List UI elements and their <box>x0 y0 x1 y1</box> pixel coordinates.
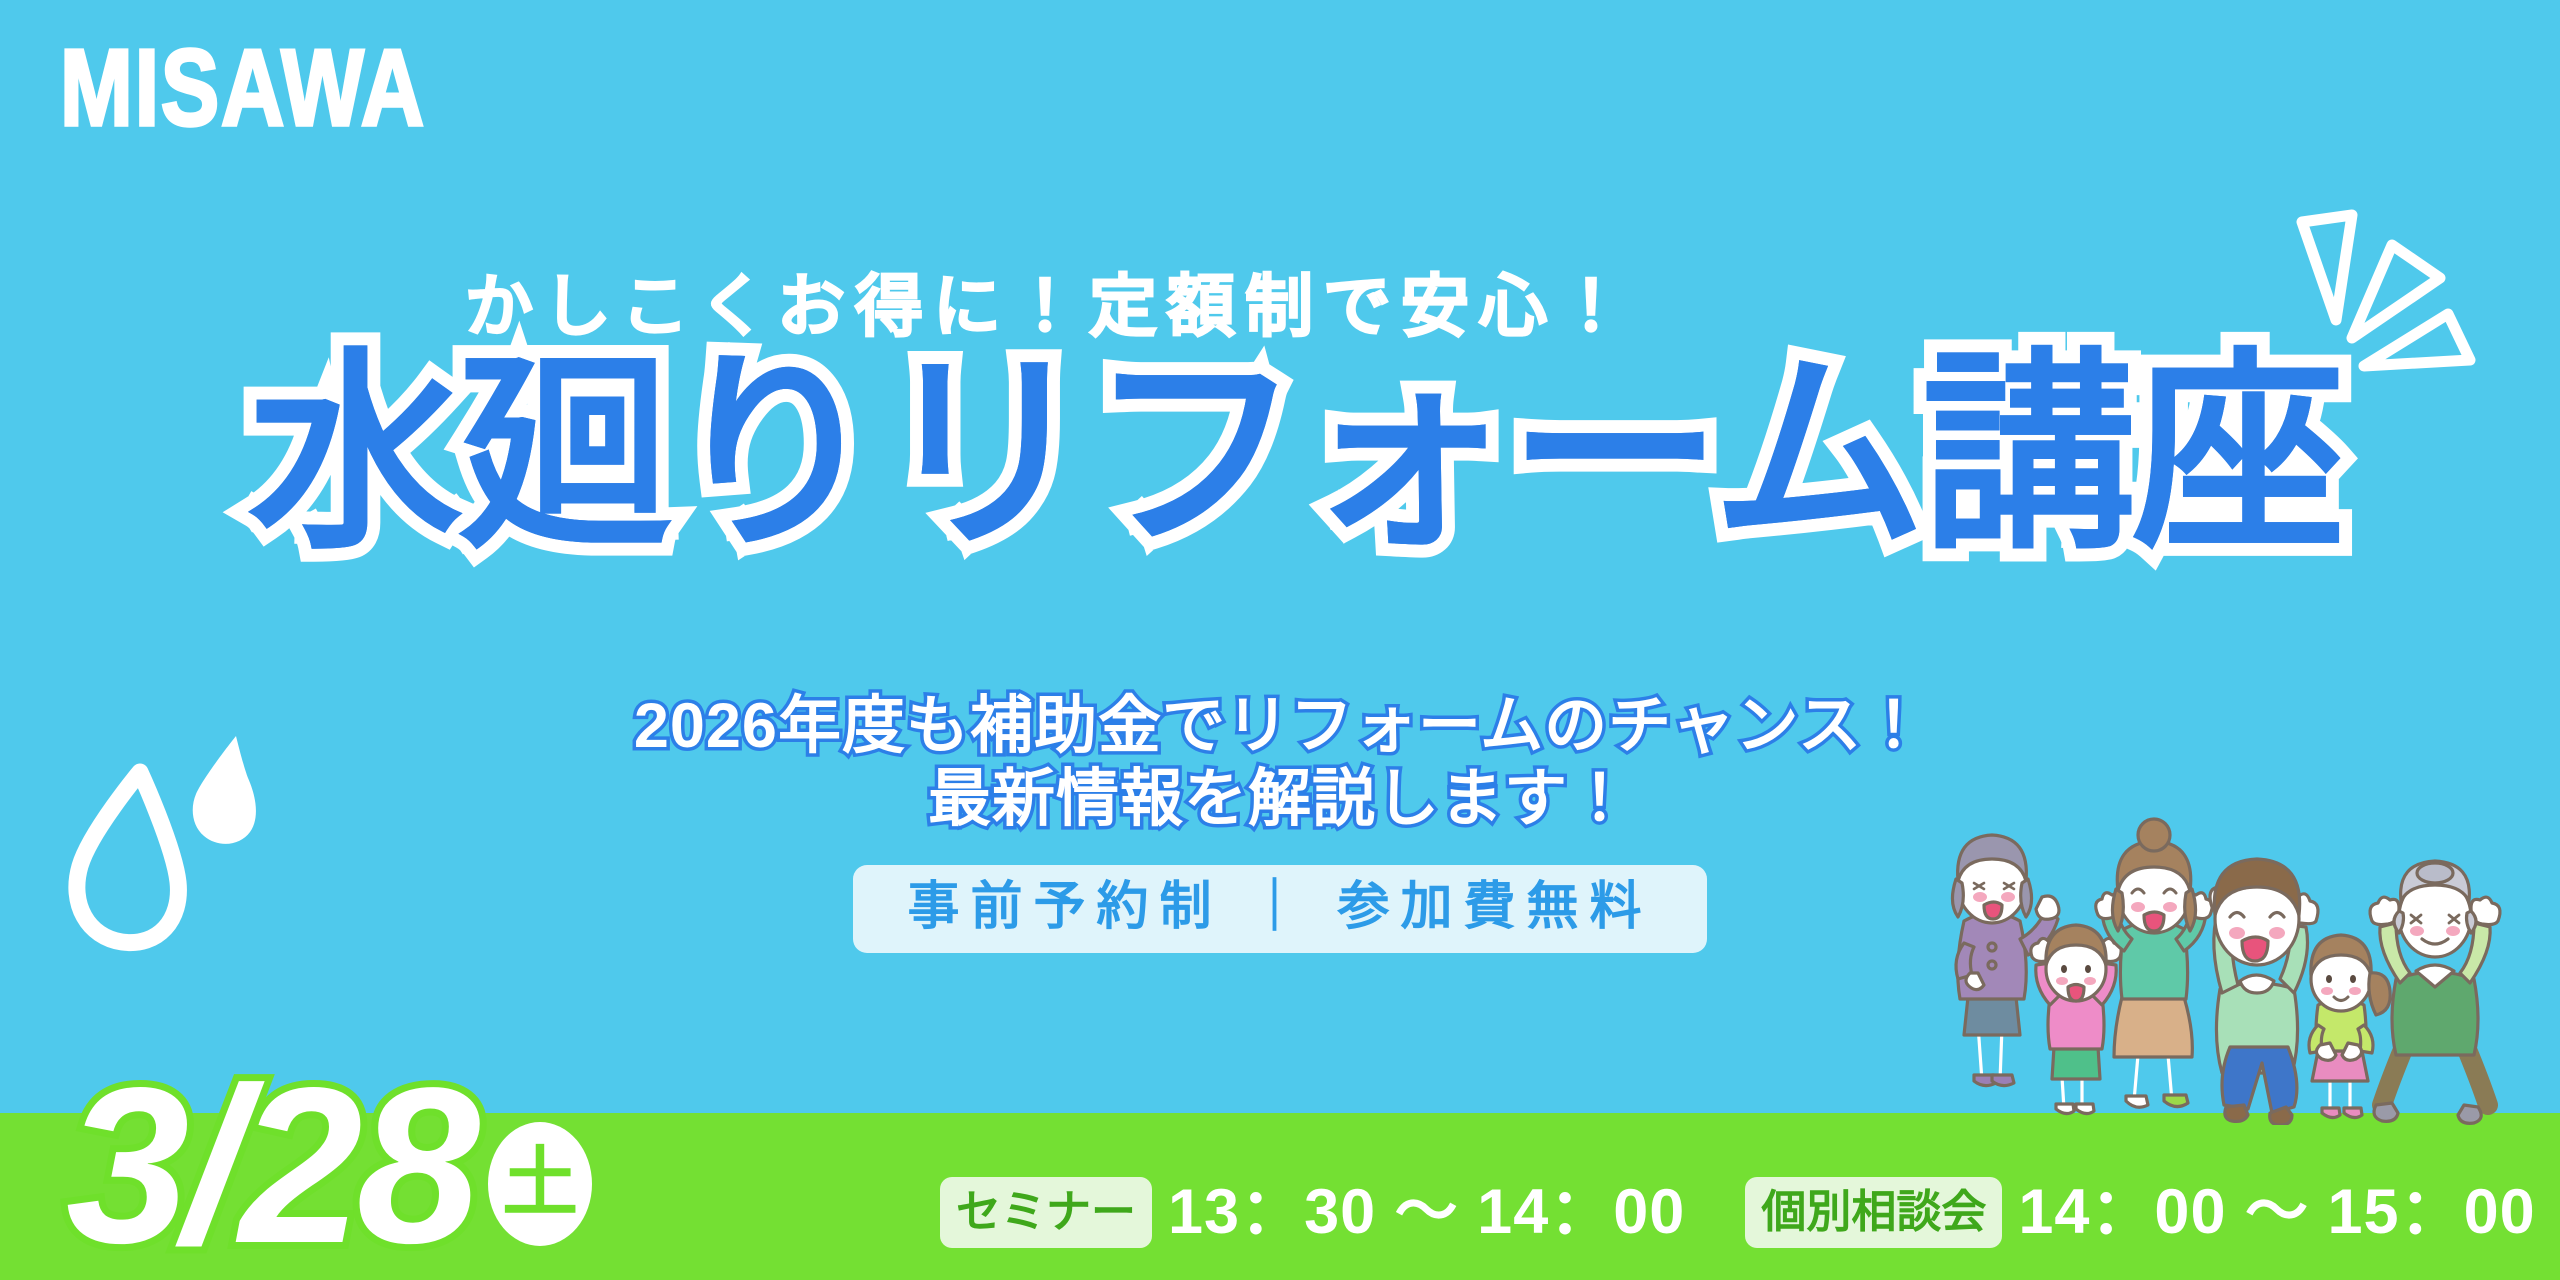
consultation-time: 14：00 ～ 15：00 <box>2018 1181 2535 1244</box>
schedule-list: セミナー 13：30 ～ 14：00 個別相談会 14：00 ～ 15：00 <box>940 1177 2536 1248</box>
sub-headline: 2026年度も補助金でリフォームのチャンス！ 最新情報を解説します！ <box>0 690 2560 836</box>
misawa-logo: MISAWA <box>60 34 426 143</box>
consultation-badge: 個別相談会 <box>1745 1177 2002 1248</box>
reservation-label: 事前予約制 <box>907 878 1222 936</box>
headline-text: 水廻りリフォーム講座 <box>218 348 2342 562</box>
schedule-item-seminar: セミナー 13：30 ～ 14：00 <box>940 1177 1685 1248</box>
sub-headline-line-1: 2026年度も補助金でリフォームのチャンス！ <box>0 690 2560 763</box>
day-of-week-badge: 土 <box>488 1122 592 1246</box>
info-pill-container: 事前予約制｜参加費無料 <box>0 865 2560 953</box>
date-text: 3/28 <box>66 1061 474 1272</box>
seminar-time: 13：30 ～ 14：00 <box>1168 1181 1685 1244</box>
pill-separator: ｜ <box>1222 881 1337 933</box>
free-entry-label: 参加費無料 <box>1338 878 1653 936</box>
info-pill: 事前予約制｜参加費無料 <box>853 865 1706 953</box>
promo-banner: MISAWA かしこくお得に！定額制で安心！ 水廻りリフォーム講座 2026年度… <box>0 0 2560 1280</box>
schedule-item-consultation: 個別相談会 14：00 ～ 15：00 <box>1745 1177 2535 1248</box>
tagline: かしこくお得に！定額制で安心！ <box>0 272 2100 343</box>
sub-headline-line-2: 最新情報を解説します！ <box>0 763 2560 836</box>
seminar-badge: セミナー <box>940 1177 1152 1248</box>
page-title: 水廻りリフォーム講座 <box>0 348 2560 562</box>
event-date: 3/28 土 <box>66 1061 592 1272</box>
